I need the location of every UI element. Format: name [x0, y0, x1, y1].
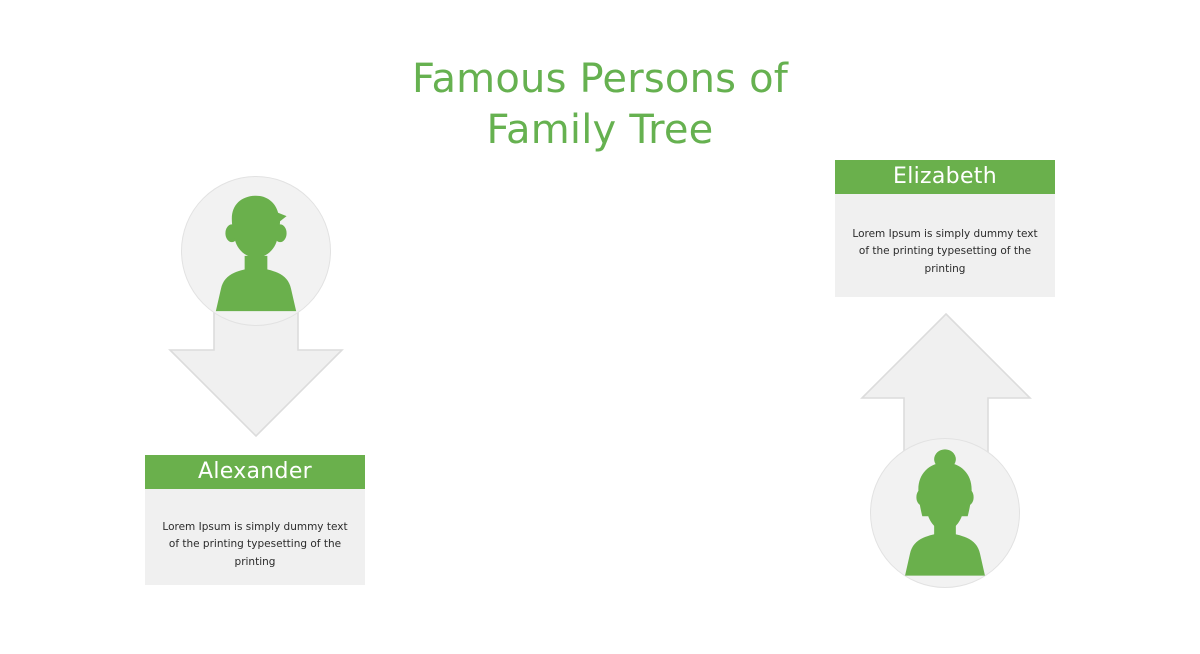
page-title: Famous Persons of Family Tree: [0, 54, 1200, 156]
person-description-elizabeth: Lorem Ipsum is simply dummy text of the …: [835, 194, 1055, 297]
person-name-elizabeth: Elizabeth: [835, 160, 1055, 194]
slide-canvas: Famous Persons of Family Tree Alexander …: [0, 0, 1200, 654]
person-female-avatar-icon: [870, 438, 1020, 588]
person-card-alexander[interactable]: Alexander Lorem Ipsum is simply dummy te…: [145, 455, 365, 585]
person-male-avatar-icon: [181, 176, 331, 326]
person-description-alexander: Lorem Ipsum is simply dummy text of the …: [145, 489, 365, 585]
person-name-alexander: Alexander: [145, 455, 365, 489]
person-card-elizabeth[interactable]: Elizabeth Lorem Ipsum is simply dummy te…: [835, 160, 1055, 297]
